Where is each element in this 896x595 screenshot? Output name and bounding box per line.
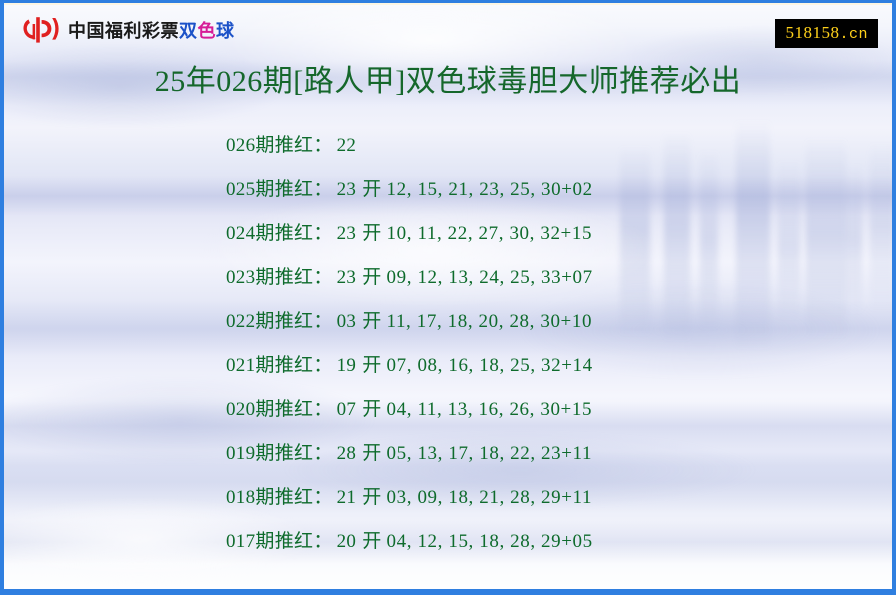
prediction-row: 017期推红：20开04, 12, 15, 18, 28, 29+05 <box>0 520 896 564</box>
row-draw-marker: 开 <box>362 223 381 245</box>
prediction-list: 026期推红：22025期推红：23开12, 15, 21, 23, 25, 3… <box>0 124 896 564</box>
page-title: 25年026期[路人甲]双色球毒胆大师推荐必出 <box>0 62 896 102</box>
row-colon: ： <box>313 355 332 377</box>
row-colon: ： <box>313 531 332 553</box>
row-winning-numbers: 11, 17, 18, 20, 28, 30+10 <box>387 311 593 333</box>
row-winning-numbers: 10, 11, 22, 27, 30, 32+15 <box>387 223 593 245</box>
row-colon: ： <box>313 179 332 201</box>
row-winning-numbers: 04, 11, 13, 16, 26, 30+15 <box>387 399 593 421</box>
row-issue-label: 018期推红 <box>226 487 313 509</box>
prediction-row: 024期推红：23开10, 11, 22, 27, 30, 32+15 <box>0 212 896 256</box>
watermark-domain-name: 518158 <box>785 23 839 42</box>
row-draw-marker: 开 <box>362 179 381 201</box>
border-right <box>892 0 896 595</box>
row-issue-label: 019期推红 <box>226 443 313 465</box>
lottery-prediction-page: 中国福利彩票双色球 518158.cn 25年026期[路人甲]双色球毒胆大师推… <box>0 0 896 595</box>
row-colon: ： <box>313 267 332 289</box>
row-issue-label: 026期推红 <box>226 135 313 157</box>
prediction-row: 022期推红：03开11, 17, 18, 20, 28, 30+10 <box>0 300 896 344</box>
row-colon: ： <box>313 311 332 333</box>
border-inner-top <box>4 3 892 5</box>
row-colon: ： <box>313 399 332 421</box>
row-draw-marker: 开 <box>362 531 381 553</box>
row-recommended-number: 23 <box>337 267 357 289</box>
row-issue-label: 022期推红 <box>226 311 313 333</box>
prediction-row: 023期推红：23开09, 12, 13, 24, 25, 33+07 <box>0 256 896 300</box>
brand-ssq-char-1: 双 <box>179 17 198 43</box>
row-winning-numbers: 09, 12, 13, 24, 25, 33+07 <box>387 267 593 289</box>
row-recommended-number: 20 <box>337 531 357 553</box>
row-winning-numbers: 12, 15, 21, 23, 25, 30+02 <box>387 179 593 201</box>
page-header: 中国福利彩票双色球 518158.cn <box>0 0 896 56</box>
border-top <box>0 0 896 3</box>
row-winning-numbers: 03, 09, 18, 21, 28, 29+11 <box>387 487 593 509</box>
row-draw-marker: 开 <box>362 311 381 333</box>
row-recommended-number: 03 <box>337 311 357 333</box>
row-draw-marker: 开 <box>362 399 381 421</box>
row-recommended-number: 19 <box>337 355 357 377</box>
row-colon: ： <box>313 135 332 157</box>
border-bottom <box>0 589 896 595</box>
china-welfare-lottery-emblem-icon <box>22 15 60 45</box>
row-winning-numbers: 05, 13, 17, 18, 22, 23+11 <box>387 443 593 465</box>
prediction-row: 018期推红：21开03, 09, 18, 21, 28, 29+11 <box>0 476 896 520</box>
border-left <box>0 0 4 595</box>
row-recommended-number: 07 <box>337 399 357 421</box>
row-colon: ： <box>313 443 332 465</box>
row-winning-numbers: 04, 12, 15, 18, 28, 29+05 <box>387 531 593 553</box>
row-recommended-number: 21 <box>337 487 357 509</box>
prediction-row: 020期推红：07开04, 11, 13, 16, 26, 30+15 <box>0 388 896 432</box>
row-colon: ： <box>313 487 332 509</box>
prediction-row: 026期推红：22 <box>0 124 896 168</box>
row-draw-marker: 开 <box>362 487 381 509</box>
row-draw-marker: 开 <box>362 443 381 465</box>
brand-ssq-char-3: 球 <box>216 17 235 43</box>
prediction-row: 021期推红：19开07, 08, 16, 18, 25, 32+14 <box>0 344 896 388</box>
brand-ssq-char-2: 色 <box>198 17 217 43</box>
row-colon: ： <box>313 223 332 245</box>
brand-logo: 中国福利彩票双色球 <box>22 15 235 45</box>
row-issue-label: 025期推红 <box>226 179 313 201</box>
row-issue-label: 023期推红 <box>226 267 313 289</box>
row-draw-marker: 开 <box>362 355 381 377</box>
row-recommended-number: 23 <box>337 179 357 201</box>
row-recommended-number: 22 <box>337 135 357 157</box>
row-winning-numbers: 07, 08, 16, 18, 25, 32+14 <box>387 355 593 377</box>
brand-name-cn: 中国福利彩票 <box>68 17 179 43</box>
row-issue-label: 021期推红 <box>226 355 313 377</box>
watermark-domain-tld: .cn <box>839 26 868 43</box>
prediction-row: 019期推红：28开05, 13, 17, 18, 22, 23+11 <box>0 432 896 476</box>
row-recommended-number: 28 <box>337 443 357 465</box>
prediction-row: 025期推红：23开12, 15, 21, 23, 25, 30+02 <box>0 168 896 212</box>
row-recommended-number: 23 <box>337 223 357 245</box>
site-watermark-badge: 518158.cn <box>775 19 878 48</box>
brand-wordmark: 中国福利彩票双色球 <box>68 17 235 43</box>
row-issue-label: 024期推红 <box>226 223 313 245</box>
row-issue-label: 017期推红 <box>226 531 313 553</box>
row-draw-marker: 开 <box>362 267 381 289</box>
row-issue-label: 020期推红 <box>226 399 313 421</box>
